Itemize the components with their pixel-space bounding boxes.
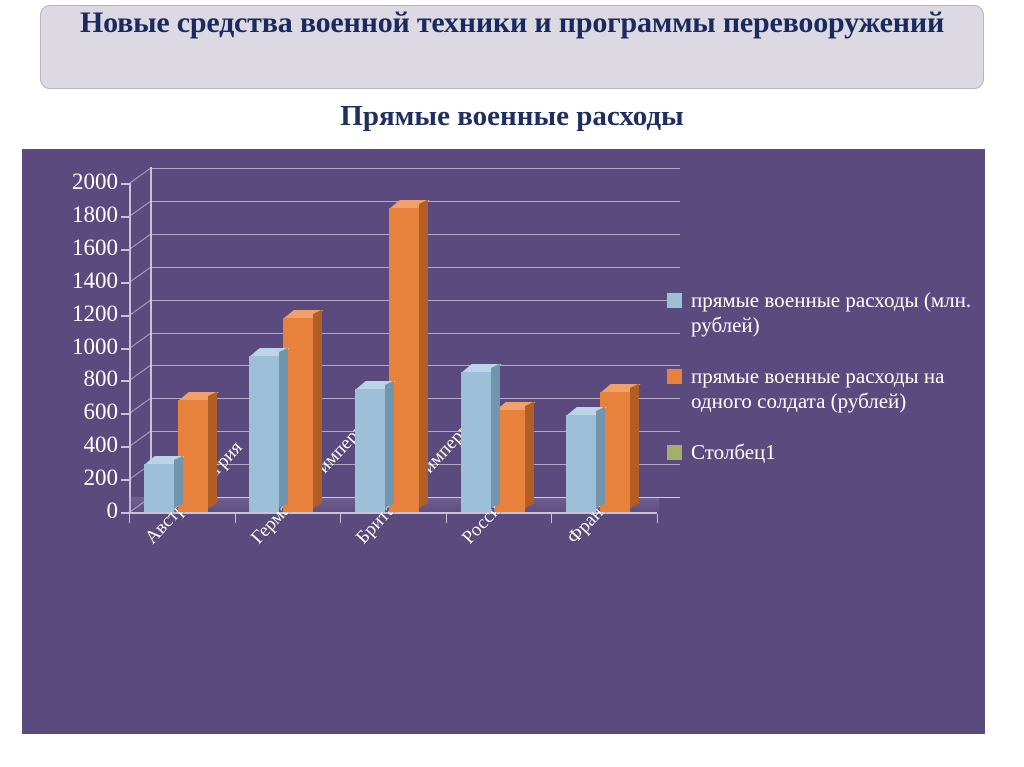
gridline: [150, 168, 680, 169]
chart-panel: 2000180016001400120010008006004002000 Ав…: [22, 149, 985, 734]
y-tick-label: 1400: [26, 269, 118, 292]
y-axis-tick: [121, 479, 130, 481]
y-tick-label: 1000: [26, 335, 118, 358]
bar-side-face: [313, 309, 322, 507]
bar-front-face: [461, 372, 491, 512]
y-axis-tick: [121, 413, 130, 415]
legend-item-0[interactable]: прямые военные расходы (млн. рублей): [667, 288, 972, 338]
legend-swatch-icon: [667, 445, 682, 460]
x-axis-tick: [446, 514, 447, 523]
y-axis-tick: [121, 282, 130, 284]
gridline-connector: [129, 431, 151, 447]
x-axis-tick: [235, 514, 236, 523]
bar-front-face: [355, 389, 385, 512]
page-subtitle: Прямые военные расходы: [40, 98, 984, 134]
bar-side-face: [279, 347, 288, 508]
x-axis-tick: [657, 514, 658, 523]
bar-3-0[interactable]: [461, 372, 491, 512]
chart-legend: прямые военные расходы (млн. рублей) пря…: [667, 288, 972, 491]
bar-side-face: [525, 402, 534, 508]
page-title: Новые средства военной техники и програм…: [40, 4, 984, 42]
y-axis-tick: [121, 315, 130, 317]
bar-front-face: [566, 415, 596, 512]
y-axis-tick: [121, 216, 130, 218]
y-axis-tick: [121, 348, 130, 350]
legend-item-2[interactable]: Столбец1: [667, 440, 972, 465]
bar-side-face: [419, 199, 428, 508]
legend-label: прямые военные расходы на одного солдата…: [691, 364, 972, 414]
bar-front-face: [144, 464, 174, 512]
gridline-connector: [129, 201, 151, 217]
bar-side-face: [174, 456, 183, 508]
gridline-connector: [129, 333, 151, 349]
bar-side-face: [208, 392, 217, 508]
y-axis-tick: [121, 380, 130, 382]
y-tick-label: 1800: [26, 203, 118, 226]
legend-label: прямые военные расходы (млн. рублей): [691, 288, 972, 338]
gridline-connector: [129, 365, 151, 381]
y-tick-label: 400: [26, 433, 118, 456]
y-axis-tick: [121, 249, 130, 251]
bar-front-face: [249, 356, 279, 512]
y-tick-label: 1600: [26, 236, 118, 259]
y-tick-label: 2000: [26, 170, 118, 193]
bar-4-0[interactable]: [566, 415, 596, 512]
gridline-connector: [129, 398, 151, 414]
bar-2-0[interactable]: [355, 389, 385, 512]
gridline-connector: [129, 300, 151, 316]
y-axis-tick: [121, 183, 130, 185]
y-tick-label: 0: [26, 499, 118, 522]
x-axis-tick: [551, 514, 552, 523]
y-tick-label: 1200: [26, 302, 118, 325]
legend-label: Столбец1: [691, 440, 776, 465]
bar-1-0[interactable]: [249, 356, 279, 512]
gridline-connector: [129, 168, 151, 184]
x-axis-tick: [340, 514, 341, 523]
legend-item-1[interactable]: прямые военные расходы на одного солдата…: [667, 364, 972, 414]
gridline-connector: [129, 267, 151, 283]
x-axis-tick: [129, 514, 130, 523]
y-tick-label: 800: [26, 367, 118, 390]
bar-side-face: [630, 384, 639, 508]
bar-side-face: [596, 407, 605, 508]
y-axis-tick: [121, 446, 130, 448]
y-tick-label: 600: [26, 400, 118, 423]
gridline-connector: [129, 234, 151, 250]
legend-swatch-icon: [667, 293, 682, 308]
bar-side-face: [385, 380, 394, 508]
slide-canvas: Новые средства военной техники и програм…: [0, 0, 1024, 767]
bar-side-face: [491, 364, 500, 508]
bar-0-0[interactable]: [144, 464, 174, 512]
y-tick-label: 200: [26, 466, 118, 489]
legend-swatch-icon: [667, 369, 682, 384]
